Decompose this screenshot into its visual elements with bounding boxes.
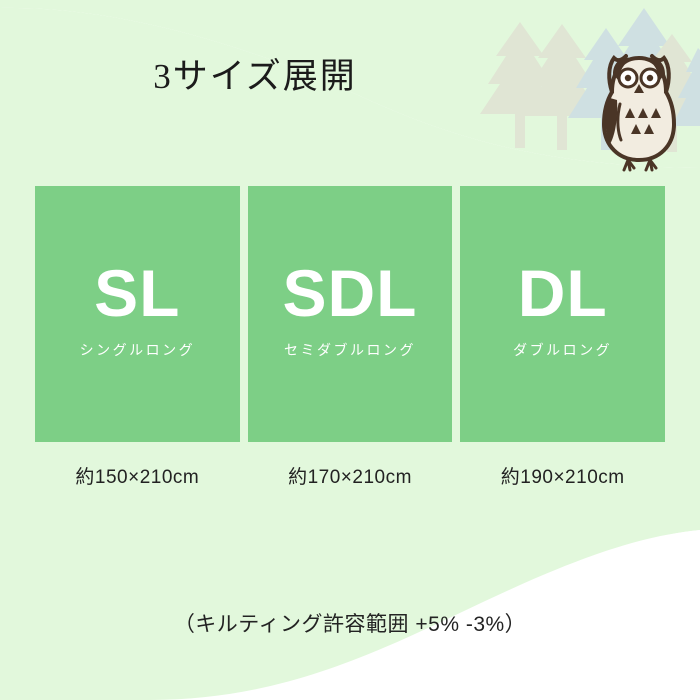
- dimension-list: 約150×210cm 約170×210cm 約190×210cm: [35, 462, 665, 490]
- size-name-label: シングルロング: [80, 340, 196, 360]
- size-abbr-label: SL: [94, 260, 180, 326]
- size-name-label: セミダブルロング: [284, 340, 416, 360]
- size-card-sdl: SDL セミダブルロング: [248, 186, 453, 442]
- size-name-label: ダブルロング: [513, 340, 612, 360]
- page-title-text: 3サイズ展開: [153, 48, 546, 99]
- size-abbr-label: DL: [518, 260, 608, 326]
- size-card-dl: DL ダブルロング: [460, 186, 665, 442]
- size-card-list: SL シングルロング SDL セミダブルロング DL ダブルロング: [35, 186, 665, 442]
- size-lineup-banner: 3サイズ展開 SL シングルロング SDL セミダブルロング DL ダブルロング…: [0, 0, 700, 700]
- dimension-label-sl: 約150×210cm: [35, 462, 240, 490]
- size-abbr-label: SDL: [283, 260, 418, 326]
- size-card-sl: SL シングルロング: [35, 186, 240, 442]
- dimension-label-dl: 約190×210cm: [460, 462, 665, 490]
- dimension-label-sdl: 約170×210cm: [248, 462, 453, 490]
- quilting-tolerance-note: （キルティング許容範囲 +5% -3%）: [0, 608, 700, 638]
- page-title: 3サイズ展開: [0, 48, 700, 99]
